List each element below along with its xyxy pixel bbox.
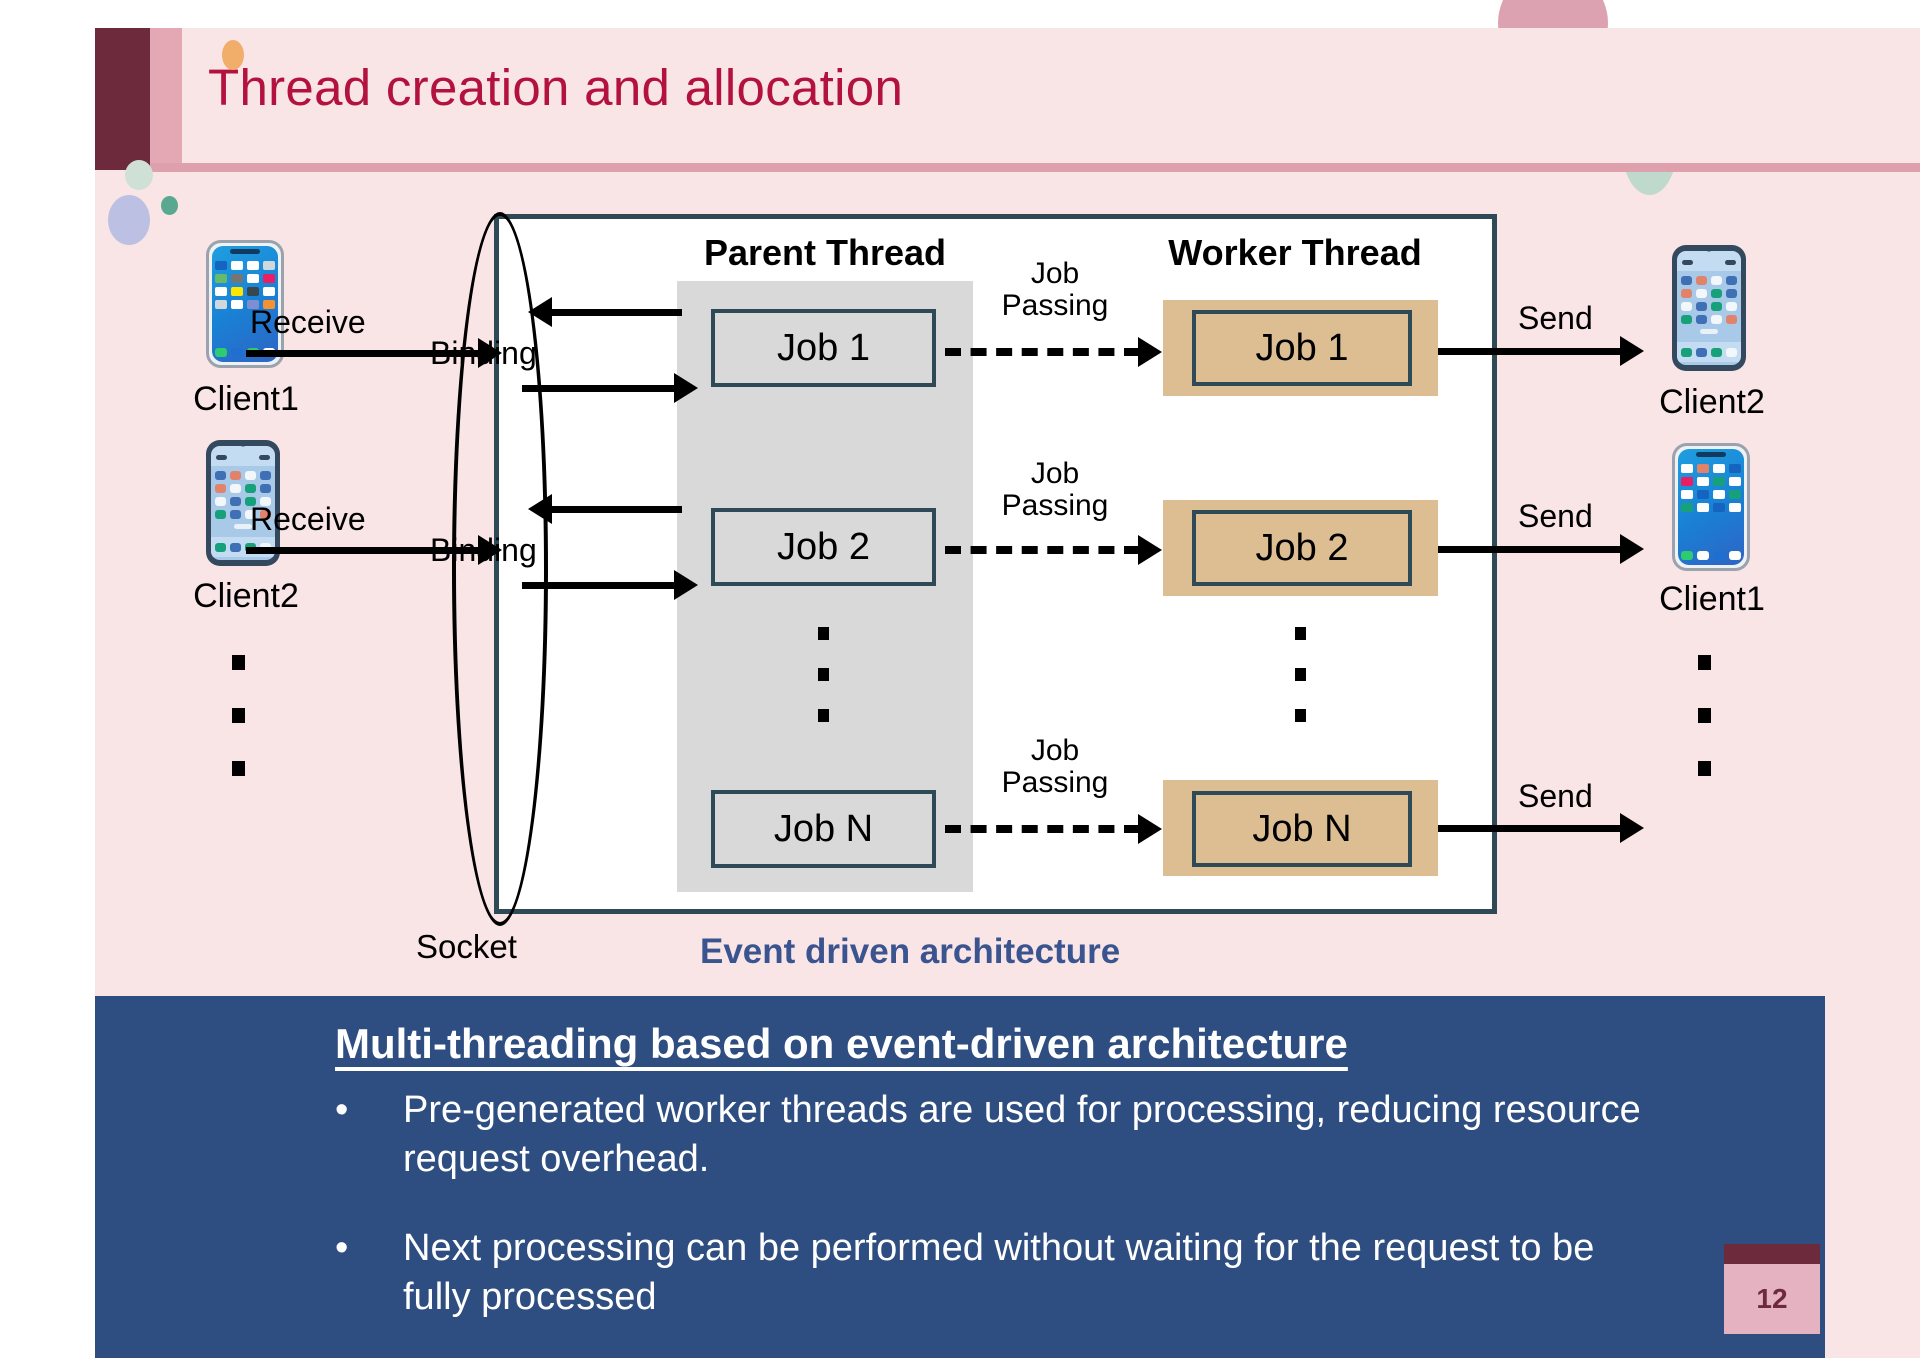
ellipsis-parent-jobs [818, 627, 829, 750]
parent-job-box-1: Job 1 [711, 309, 936, 387]
client-label-right-2: Client1 [1622, 580, 1802, 619]
binding-arrow-line-1 [522, 385, 682, 392]
bullet-marker-icon: • [335, 1224, 348, 1273]
binding-label-1: Binding [430, 335, 537, 372]
decorative-circle-purple [108, 195, 150, 245]
worker-job-box-2: Job 2 [1192, 510, 1412, 586]
binding-label-2: Binding [430, 532, 537, 569]
page-number-accent [1724, 1244, 1820, 1264]
header-accent-bar-pink [150, 28, 182, 170]
job-passing-label-3: Job Passing [985, 735, 1125, 798]
job-passing-arrow-head-2 [1138, 535, 1162, 565]
binding-return-line-1 [552, 309, 682, 316]
smartphone-icon-vivid [1672, 443, 1750, 571]
summary-heading: Multi-threading based on event-driven ar… [335, 1020, 1348, 1068]
binding-return-line-2 [552, 506, 682, 513]
worker-job-box-1: Job 1 [1192, 310, 1412, 386]
decorative-circle-green-top [125, 160, 153, 190]
send-arrow-head-2 [1620, 534, 1644, 564]
client-label-left-2: Client2 [156, 577, 336, 616]
bullet-marker-icon: • [335, 1086, 348, 1135]
header-underline [150, 163, 1920, 172]
ellipsis-clients-right [1698, 655, 1711, 814]
summary-bullet-2-text: Next processing can be performed without… [403, 1224, 1665, 1321]
summary-bullet-1: • Pre-generated worker threads are used … [335, 1086, 1665, 1183]
parent-job-box-2: Job 2 [711, 508, 936, 586]
slide-canvas: Thread creation and allocation Parent Th… [0, 0, 1920, 1358]
send-arrow-head-3 [1620, 813, 1644, 843]
page-title: Thread creation and allocation [208, 58, 1408, 117]
summary-bullet-2: • Next processing can be performed witho… [335, 1224, 1665, 1321]
client-label-left-1: Client1 [156, 380, 336, 419]
send-arrow-line-2 [1438, 546, 1628, 553]
send-label-3: Send [1518, 778, 1593, 815]
binding-return-head-1 [528, 297, 552, 327]
header-accent-bar-maroon [95, 28, 150, 170]
job-passing-dashed-line-1 [945, 348, 1140, 356]
job-passing-label-1: Job Passing [985, 258, 1125, 321]
ellipsis-worker-jobs [1295, 627, 1306, 750]
job-passing-arrow-head-1 [1138, 337, 1162, 367]
receive-label-2: Receive [250, 501, 366, 538]
binding-arrow-line-2 [522, 582, 682, 589]
worker-thread-title: Worker Thread [1140, 232, 1450, 274]
worker-job-box-3: Job N [1192, 791, 1412, 867]
parent-job-box-3: Job N [711, 790, 936, 868]
job-passing-label-2: Job Passing [985, 458, 1125, 521]
client-label-right-1: Client2 [1622, 383, 1802, 422]
send-arrow-line-3 [1438, 825, 1628, 832]
ellipsis-clients-left [232, 655, 245, 814]
client-phone-right-1 [1672, 245, 1746, 371]
event-driven-architecture-label: Event driven architecture [700, 932, 1120, 972]
summary-bullet-1-text: Pre-generated worker threads are used fo… [403, 1086, 1665, 1183]
send-label-2: Send [1518, 498, 1593, 535]
send-label-1: Send [1518, 300, 1593, 337]
job-passing-arrow-head-3 [1138, 814, 1162, 844]
socket-label: Socket [416, 928, 517, 966]
binding-return-head-2 [528, 494, 552, 524]
decorative-circle-orange-title [222, 40, 244, 70]
smartphone-icon-navy [1672, 245, 1746, 371]
send-arrow-head-1 [1620, 336, 1644, 366]
binding-arrow-head-2 [674, 570, 698, 600]
summary-panel: Multi-threading based on event-driven ar… [95, 996, 1825, 1358]
receive-label-1: Receive [250, 304, 366, 341]
binding-arrow-head-1 [674, 373, 698, 403]
parent-thread-title: Parent Thread [677, 232, 973, 274]
job-passing-dashed-line-2 [945, 546, 1140, 554]
job-passing-dashed-line-3 [945, 825, 1140, 833]
send-arrow-line-1 [1438, 348, 1628, 355]
client-phone-right-2 [1672, 443, 1750, 571]
decorative-circle-teal [161, 196, 178, 215]
page-number-badge: 12 [1724, 1264, 1820, 1334]
